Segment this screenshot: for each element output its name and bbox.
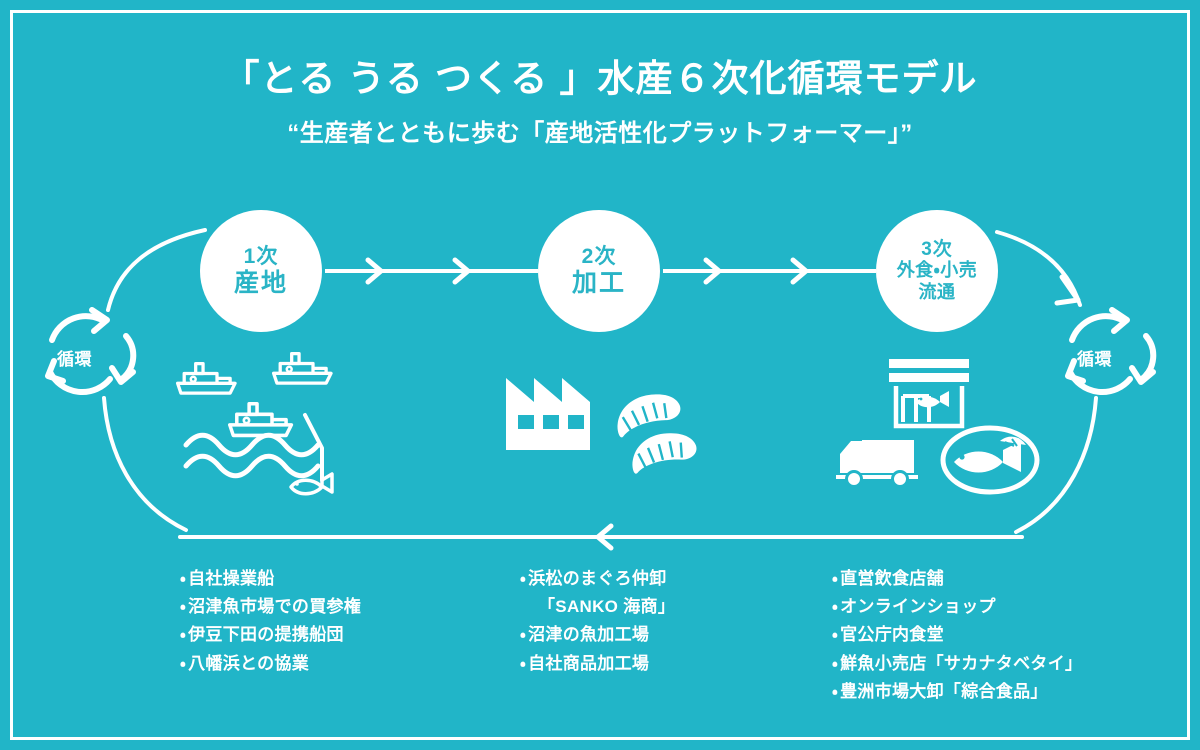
stage-name-1: 産地 xyxy=(234,269,288,297)
list-item-label: 鮮魚小売店「サカナタベタイ」 xyxy=(840,654,1082,673)
shrimp-icon xyxy=(630,431,698,474)
list-item-label: 官公庁内食堂 xyxy=(840,625,944,644)
bullet-marker: ・ xyxy=(180,625,186,644)
bullet-marker: ・ xyxy=(180,597,186,616)
stage-name-3-line2: 流通 xyxy=(919,282,956,303)
stage-node-2[interactable]: 2次 加工 xyxy=(538,210,660,332)
list-item: ・直営飲食店舗 xyxy=(832,565,1082,593)
stage-node-3[interactable]: 3次 外食・小売 流通 xyxy=(876,210,998,332)
list-item-label: オンラインショップ xyxy=(840,597,996,616)
bullet-marker: ・ xyxy=(832,569,838,588)
stage-3-item-list: ・直営飲食店舗・オンラインショップ・官公庁内食堂・鮮魚小売店「サカナタベタイ」・… xyxy=(832,565,1082,706)
fishing-boat-icon xyxy=(178,364,235,394)
list-item: ・豊洲市場大卸「綜合食品」 xyxy=(832,678,1082,706)
fishing-boat-icon xyxy=(230,404,292,436)
page-subtitle: “生産者とともに歩む「産地活性化プラットフォーマー」” xyxy=(0,113,1200,148)
cycle-label-right: 循環 xyxy=(1077,345,1112,370)
factory-icon xyxy=(506,378,590,450)
list-item: ・鮮魚小売店「サカナタベタイ」 xyxy=(832,650,1082,678)
bullet-marker: ・ xyxy=(520,625,526,644)
stage-1-icon-group xyxy=(178,354,332,494)
wave-icon xyxy=(186,435,318,476)
list-item: ・自社操業船 xyxy=(180,565,361,593)
shrimp-icon xyxy=(614,391,684,438)
list-item-label: 沼津魚市場での買参権 xyxy=(188,597,361,616)
stage-3-icon-group xyxy=(836,359,1037,492)
list-item-label: 浜松のまぐろ仲卸 xyxy=(528,569,666,588)
stage-name-3: 外食・小売 xyxy=(897,260,978,281)
bullet-marker: ・ xyxy=(520,654,526,673)
list-item-label: 八幡浜との協業 xyxy=(188,654,309,673)
list-item-label: 「SANKO 海商」 xyxy=(538,597,675,616)
list-item-label: 沼津の魚加工場 xyxy=(528,625,649,644)
stage-2-item-list: ・浜松のまぐろ仲卸「SANKO 海商」・沼津の魚加工場・自社商品加工場 xyxy=(520,565,675,678)
list-item-label: 自社操業船 xyxy=(188,569,275,588)
fish-on-plate-icon xyxy=(943,428,1037,492)
delivery-truck-icon xyxy=(836,440,918,487)
list-item: ・官公庁内食堂 xyxy=(832,621,1082,649)
storefront-fish-icon xyxy=(889,359,969,426)
stage-number-1: 1次 xyxy=(244,245,279,269)
list-item-label: 直営飲食店舗 xyxy=(840,569,944,588)
stage-number-3: 3次 xyxy=(921,239,953,260)
bullet-marker: ・ xyxy=(832,625,838,644)
stage-2-icon-group xyxy=(506,378,698,474)
list-item: ・沼津の魚加工場 xyxy=(520,621,675,649)
bullet-marker: ・ xyxy=(832,597,838,616)
bullet-marker: ・ xyxy=(520,569,526,588)
infographic-poster: 「とる うる つくる 」水産６次化循環モデル “生産者とともに歩む「産地活性化プ… xyxy=(0,0,1200,750)
list-item-label: 伊豆下田の提携船団 xyxy=(188,625,344,644)
stage-number-2: 2次 xyxy=(582,245,617,269)
bullet-marker: ・ xyxy=(180,654,186,673)
list-item: ・オンラインショップ xyxy=(832,593,1082,621)
stage-node-1[interactable]: 1次 産地 xyxy=(200,210,322,332)
stage-1-item-list: ・自社操業船・沼津魚市場での買参権・伊豆下田の提携船団・八幡浜との協業 xyxy=(180,565,361,678)
list-item: ・浜松のまぐろ仲卸 xyxy=(520,565,675,593)
stage-name-2: 加工 xyxy=(572,269,626,297)
bullet-marker: ・ xyxy=(832,654,838,673)
fishing-boat-icon xyxy=(274,354,331,384)
cycle-label-left: 循環 xyxy=(57,345,92,370)
list-item-label: 豊洲市場大卸「綜合食品」 xyxy=(840,682,1048,701)
list-item-label: 自社商品加工場 xyxy=(528,654,649,673)
bullet-marker: ・ xyxy=(832,682,838,701)
list-item: ・八幡浜との協業 xyxy=(180,650,361,678)
list-item: ・伊豆下田の提携船団 xyxy=(180,621,361,649)
list-item: ・沼津魚市場での買参権 xyxy=(180,593,361,621)
page-title: 「とる うる つくる 」水産６次化循環モデル xyxy=(0,48,1200,102)
list-item: ・自社商品加工場 xyxy=(520,650,675,678)
bullet-marker: ・ xyxy=(180,569,186,588)
list-item: 「SANKO 海商」 xyxy=(520,593,675,621)
